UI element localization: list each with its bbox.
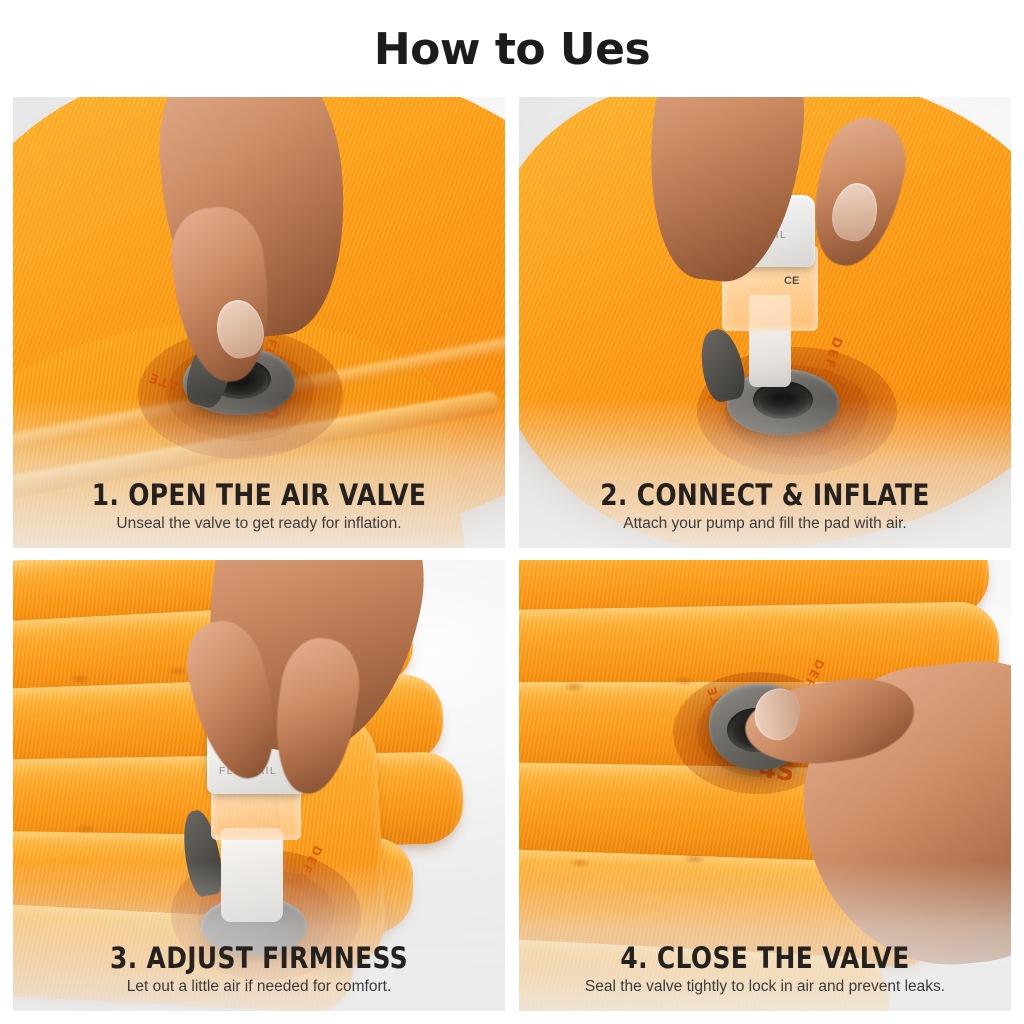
step-4-subtitle: Seal the valve tightly to lock in air an…: [519, 978, 1011, 997]
step-4-photo: DEFLATE DEFLATE 4S 4. CLOSE THE VALVE Se…: [519, 560, 1011, 1011]
step-3-caption: 3. ADJUST FIRMNESS Let out a little air …: [13, 943, 505, 997]
pad-tuft-1: [559, 680, 589, 694]
step-panel-3[interactable]: DEFLATE DEFLATE 4S FLEXTAIL 3. ADJUST FI…: [13, 560, 505, 1011]
step-2-photo: DEFLATE DEFLATE 4S CE FLEXTAIL 2. CONNEC…: [519, 97, 1011, 548]
step-panel-4[interactable]: DEFLATE DEFLATE 4S 4. CLOSE THE VALVE Se…: [519, 560, 1011, 1011]
step-2-title: 2. CONNECT & INFLATE: [553, 480, 976, 510]
step-4-title: 4. CLOSE THE VALVE: [553, 943, 976, 973]
step-3-subtitle: Let out a little air if needed for comfo…: [13, 978, 505, 997]
steps-grid: DEFLATE DEFLATE 4S 1. OPEN THE AIR VALVE…: [13, 97, 1011, 1011]
step-1-subtitle: Unseal the valve to get ready for inflat…: [13, 515, 505, 534]
pad-tuft-4: [679, 852, 709, 866]
pad-tuft-2: [669, 674, 699, 688]
step-2-subtitle: Attach your pump and fill the pad with a…: [519, 515, 1011, 534]
step-4-caption: 4. CLOSE THE VALVE Seal the valve tightl…: [519, 943, 1011, 997]
step-1-caption: 1. OPEN THE AIR VALVE Unseal the valve t…: [13, 480, 505, 534]
page-title: How to Ues: [0, 26, 1024, 74]
pad-tuft-3: [565, 856, 595, 870]
step-panel-2[interactable]: DEFLATE DEFLATE 4S CE FLEXTAIL 2. CONNEC…: [519, 97, 1011, 548]
pump-ce-mark: CE: [784, 275, 799, 287]
step-2-caption: 2. CONNECT & INFLATE Attach your pump an…: [519, 480, 1011, 534]
pad-tuft-3: [71, 822, 101, 836]
pump-nozzle: [221, 828, 283, 922]
step-1-photo: DEFLATE DEFLATE 4S 1. OPEN THE AIR VALVE…: [13, 97, 505, 548]
step-3-photo: DEFLATE DEFLATE 4S FLEXTAIL 3. ADJUST FI…: [13, 560, 505, 1011]
step-3-title: 3. ADJUST FIRMNESS: [47, 943, 470, 973]
step-1-title: 1. OPEN THE AIR VALVE: [47, 480, 470, 510]
pad-tuft-1: [65, 672, 95, 686]
step-panel-1[interactable]: DEFLATE DEFLATE 4S 1. OPEN THE AIR VALVE…: [13, 97, 505, 548]
